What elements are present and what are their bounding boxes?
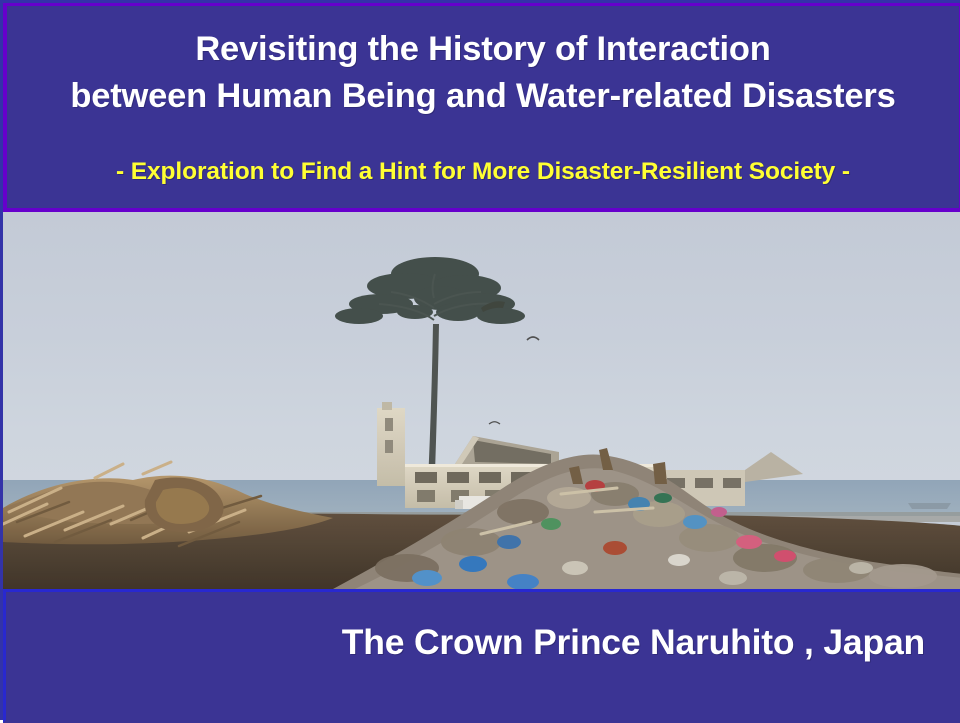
title-slide: Revisiting the History of Interaction be…: [0, 0, 960, 720]
title-line-2: between Human Being and Water-related Di…: [7, 79, 959, 114]
slide-title: Revisiting the History of Interaction be…: [7, 32, 959, 113]
slide-footer: The Crown Prince Naruhito , Japan: [3, 589, 960, 723]
author-name: The Crown Prince Naruhito , Japan: [342, 622, 925, 663]
disaster-photo-illustration: [3, 212, 960, 589]
title-line-1: Revisiting the History of Interaction: [7, 32, 959, 67]
slide-subtitle: - Exploration to Find a Hint for More Di…: [7, 158, 959, 186]
disaster-photo: [3, 212, 960, 589]
slide-header: Revisiting the History of Interaction be…: [3, 3, 960, 212]
